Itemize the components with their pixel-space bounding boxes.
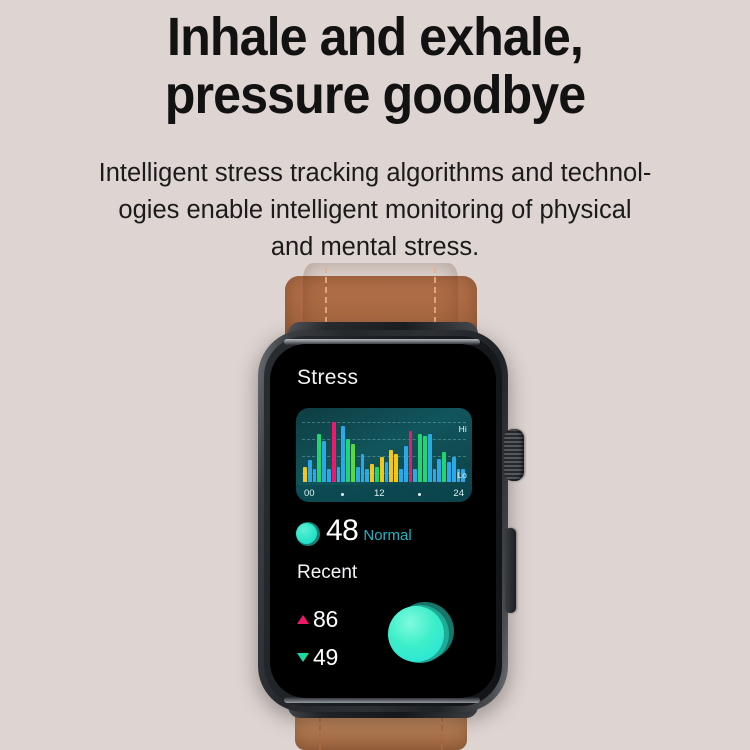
stress-bar <box>380 457 384 482</box>
chart-x-tick-0: 00 <box>304 488 315 499</box>
stress-dot-inner <box>296 523 317 544</box>
watch-screen: Stress Hi Lo 00 12 24 48 <box>270 344 496 698</box>
stress-score-label: Normal <box>363 521 411 551</box>
stress-bar <box>351 444 355 482</box>
recent-values-list: 86 49 <box>297 600 338 676</box>
chart-x-tick-24: 24 <box>453 488 464 499</box>
stress-score-row: 48 Normal <box>296 516 412 551</box>
stress-bar <box>399 469 403 482</box>
stress-bar <box>322 441 326 482</box>
stress-bar <box>437 459 441 482</box>
watch-side-button[interactable] <box>505 528 516 613</box>
stress-bar <box>341 426 345 482</box>
stress-bar <box>423 436 427 482</box>
smartwatch-product-image: Stress Hi Lo 00 12 24 48 <box>0 0 750 750</box>
stress-bar <box>385 462 389 482</box>
recent-high-value: 86 <box>313 606 338 633</box>
chart-x-axis: 00 12 24 <box>296 485 472 502</box>
recent-item-high: 86 <box>297 600 338 638</box>
chart-x-tick-12: 12 <box>374 488 385 499</box>
stress-bar <box>313 469 317 482</box>
arrow-down-icon <box>297 653 309 662</box>
recent-low-value: 49 <box>313 644 338 671</box>
stress-bar <box>332 422 336 482</box>
watch-crown-button[interactable] <box>504 429 524 481</box>
stress-bar <box>370 464 374 482</box>
stress-bar <box>394 454 398 482</box>
stress-score-value: 48 <box>326 516 358 546</box>
stress-level-indicator-icon <box>296 522 320 546</box>
chart-x-tick-dot <box>341 493 344 496</box>
stress-bar <box>433 469 437 482</box>
stress-bar <box>418 434 422 482</box>
stress-bar <box>356 467 360 482</box>
chart-axis-label-high: Hi <box>459 424 467 434</box>
stress-bar <box>447 462 451 482</box>
stress-bar <box>308 460 312 482</box>
recent-item-low: 49 <box>297 638 338 676</box>
stress-bar <box>409 431 413 482</box>
orb-front-layer <box>388 606 444 662</box>
stress-bar <box>442 452 446 482</box>
stress-bar <box>365 469 369 482</box>
stress-chart-card[interactable]: Hi Lo 00 12 24 <box>296 408 472 502</box>
stress-bar <box>428 434 432 482</box>
chart-axis-label-low: Lo <box>457 470 467 480</box>
stress-bar <box>361 454 365 482</box>
chart-x-tick-dot <box>418 493 421 496</box>
stress-bar <box>389 450 393 482</box>
stress-chart-bars <box>303 416 465 482</box>
stress-orb-graphic <box>388 602 454 668</box>
recent-section-title: Recent <box>297 562 357 584</box>
stress-bar <box>317 434 321 482</box>
stress-bar <box>404 446 408 482</box>
stress-bar <box>327 469 331 482</box>
stress-bar <box>375 467 379 482</box>
screen-title: Stress <box>297 366 358 390</box>
stress-bar <box>346 439 350 482</box>
stress-bar <box>337 467 341 482</box>
stress-bar <box>413 469 417 482</box>
arrow-up-icon <box>297 615 309 624</box>
stress-bar <box>452 457 456 482</box>
stress-bar <box>303 467 307 482</box>
